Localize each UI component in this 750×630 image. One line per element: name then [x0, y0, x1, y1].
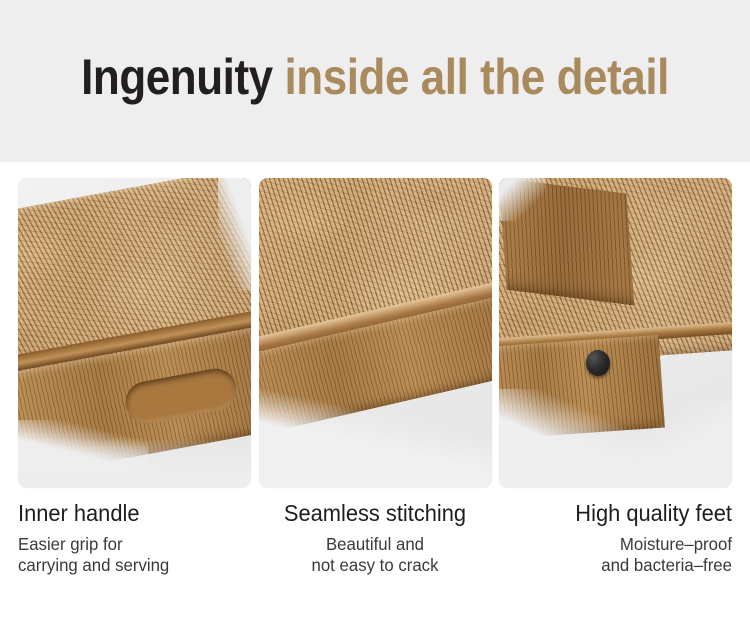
feature-title: High quality feet — [515, 498, 732, 528]
feature-subtitle-line-2: and bacteria–free — [513, 555, 732, 576]
rubber-foot-photo — [499, 178, 732, 488]
feature-subtitle-line-1: Beautiful and — [266, 534, 485, 555]
feature-image-seamless-stitching[interactable] — [259, 178, 492, 488]
headline-gold-text: inside all the detail — [284, 49, 668, 105]
headline-dark-text: Ingenuity — [81, 49, 273, 105]
photo-fade-bottom — [18, 438, 251, 488]
feature-images-row — [0, 178, 750, 488]
feature-caption-inner-handle: Inner handle Easier grip for carrying an… — [18, 498, 246, 618]
feature-caption-high-quality-feet: High quality feet Moisture–proof and bac… — [504, 498, 732, 618]
photo-fade-top-left — [499, 178, 546, 221]
end-grain-pattern-photo — [259, 178, 492, 488]
cutting-board-handle-photo — [18, 178, 251, 488]
feature-title: Seamless stitching — [267, 498, 484, 528]
photo-fade-bottom-left — [259, 383, 492, 488]
photo-fade-bottom-right — [616, 401, 733, 488]
feature-caption-seamless-stitching: Seamless stitching Beautiful and not eas… — [261, 498, 489, 618]
page-title: Ingenuity inside all the detail — [45, 46, 705, 108]
feature-image-high-quality-feet[interactable] — [499, 178, 732, 488]
feature-captions-row: Inner handle Easier grip for carrying an… — [0, 498, 750, 618]
feature-image-inner-handle[interactable] — [18, 178, 251, 488]
feature-title: Inner handle — [18, 498, 235, 528]
feature-subtitle-line-2: not easy to crack — [266, 555, 485, 576]
photo-fade-right — [218, 178, 251, 290]
feature-subtitle-line-1: Moisture–proof — [513, 534, 732, 555]
feature-subtitle-line-1: Easier grip for — [18, 534, 237, 555]
feature-subtitle-line-2: carrying and serving — [18, 555, 237, 576]
